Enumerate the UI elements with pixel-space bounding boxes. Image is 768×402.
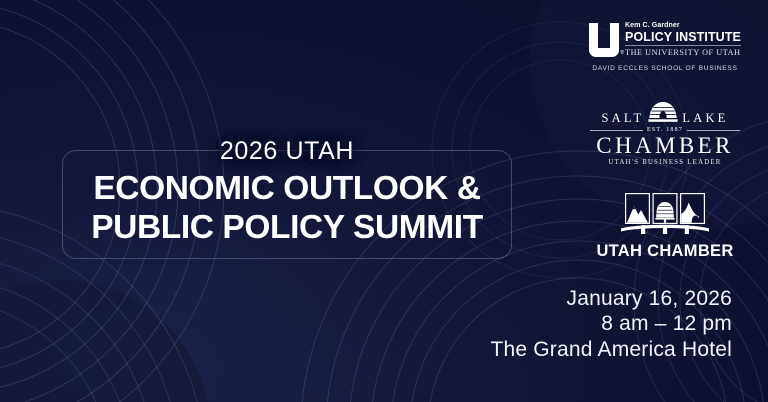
page-title: ECONOMIC OUTLOOK & PUBLIC POLICY SUMMIT [63,169,511,247]
policy-institute-name: POLICY INSTITUTE [625,30,741,44]
eyebrow: 2026 UTAH [63,136,511,166]
title-line-2: PUBLIC POLICY SUMMIT [63,208,511,247]
beehive-icon [648,101,678,125]
event-venue: The Grand America Hotel [490,337,732,363]
sponsor-logos: ® Kem C. Gardner POLICY INSTITUTE THE UN… [590,22,740,261]
logo-utah-chamber: UTAH CHAMBER [590,192,740,261]
event-details: January 16, 2026 8 am – 12 pm The Grand … [490,286,732,363]
gardner-name: Kem C. Gardner [625,22,741,30]
rule-left [590,130,643,131]
rule-right [687,130,740,131]
utah-chamber-wordmark: UTAH CHAMBER [596,242,733,261]
chamber-tagline: UTAH'S BUSINESS LEADER [608,158,721,167]
event-date: January 16, 2026 [490,286,732,312]
registered-mark: ® [620,51,624,56]
university-name: THE UNIVERSITY OF UTAH [625,45,741,58]
logo-salt-lake-chamber: SALT LAKE EST. 1887 CHAMBER [590,101,740,167]
block-u-icon: ® [589,23,619,57]
event-banner: 2026 UTAH ECONOMIC OUTLOOK & PUBLIC POLI… [0,0,768,402]
event-time: 8 am – 12 pm [490,311,732,337]
chamber-wordmark: CHAMBER [596,133,734,158]
eyebrow-text: 2026 UTAH [206,136,368,166]
logo-gardner-policy-institute: ® Kem C. Gardner POLICY INSTITUTE THE UN… [590,22,740,73]
title-line-1: ECONOMIC OUTLOOK & [63,169,511,208]
business-school-name: DAVID ECCLES SCHOOL OF BUSINESS [592,64,737,73]
title-frame: 2026 UTAH ECONOMIC OUTLOOK & PUBLIC POLI… [62,150,512,259]
chamber-word-lake: LAKE [682,111,728,125]
chamber-word-salt: SALT [601,111,644,125]
mountains-beehive-arch-icon [617,192,713,239]
